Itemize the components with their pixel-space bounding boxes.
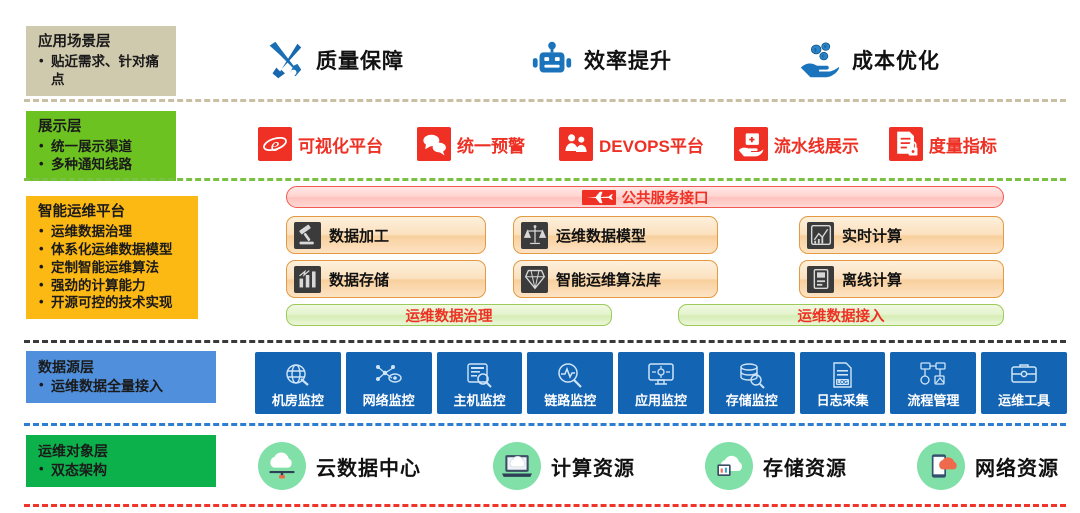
datasource-tiles-row: 机房监控 网络监控 主机监控 (255, 352, 1067, 414)
object-item-label: 云数据中心 (316, 452, 421, 481)
application-item-label: 质量保障 (316, 45, 404, 75)
layer-title-objects: 运维对象层 (38, 442, 206, 460)
layer-bullets-application: 贴近需求、针对痛点 (38, 53, 166, 89)
platform-area: 公共服务接口 数据加工 (286, 186, 1004, 332)
server-rack-icon (807, 266, 834, 293)
presentation-item-label: 度量指标 (929, 132, 997, 157)
airplane-icon (582, 190, 616, 205)
object-item-label: 网络资源 (975, 452, 1059, 481)
datasource-tile-idc-monitoring[interactable]: 机房监控 (255, 352, 341, 414)
browser-e-icon: e (258, 127, 292, 161)
platform-card-label: 智能运维算法库 (556, 269, 661, 290)
layer-label-objects: 运维对象层 双态架构 (26, 435, 216, 487)
presentation-item-label: 流水线展示 (774, 132, 859, 157)
presentation-item-metrics[interactable]: 度量指标 (889, 127, 997, 161)
layer-bullets-objects: 双态架构 (38, 461, 206, 479)
gavel-icon (294, 222, 321, 249)
globe-network-icon (283, 361, 313, 389)
hand-coins-icon: $¥€ (797, 37, 843, 83)
datasource-tile-process-management[interactable]: 流程管理 (890, 352, 976, 414)
bullet-item: 体系化运维数据模型 (38, 241, 188, 259)
datasource-tile-label: 链路监控 (544, 390, 596, 409)
presentation-item-alerting[interactable]: 统一预警 (417, 127, 525, 161)
application-item-efficiency[interactable]: 效率提升 (529, 37, 672, 83)
layer-title-application: 应用场景层 (38, 33, 166, 52)
platform-card-realtime-compute[interactable]: 实时计算 (799, 216, 1004, 254)
platform-card-data-model[interactable]: 运维数据模型 (513, 216, 718, 254)
cloud-datacenter-icon (258, 442, 306, 490)
platform-footer-label: 运维数据接入 (798, 305, 885, 326)
divider-presentation-platform (24, 178, 1066, 181)
bullet-item: 开源可控的技术实现 (38, 294, 188, 312)
pulse-search-icon (555, 361, 585, 389)
wrench-screwdriver-icon (261, 37, 307, 83)
object-item-label: 存储资源 (763, 452, 847, 481)
datasource-tile-label: 存储监控 (726, 390, 778, 409)
layer-title-presentation: 展示层 (38, 118, 166, 137)
platform-card-data-storage[interactable]: 数据存储 (286, 260, 486, 298)
bullet-item: 统一展示渠道 (38, 138, 166, 156)
object-item-cloud-datacenter[interactable]: 云数据中心 (258, 442, 421, 490)
datasource-tile-label: 网络监控 (363, 390, 415, 409)
datasource-tile-label: 机房监控 (272, 390, 324, 409)
layer-label-application: 应用场景层 贴近需求、针对痛点 (26, 26, 176, 96)
platform-card-offline-compute[interactable]: 离线计算 (799, 260, 1004, 298)
objects-items-row: 云数据中心 计算资源 (258, 432, 1070, 500)
architecture-diagram: 应用场景层 贴近需求、针对痛点 质量保障 (0, 0, 1080, 513)
presentation-item-label: 可视化平台 (298, 132, 383, 157)
layer-bullets-platform: 运维数据治理 体系化运维数据模型 定制智能运维算法 强劲的计算能力 开源可控的技… (38, 223, 188, 312)
datasource-tile-application-monitoring[interactable]: 应用监控 (618, 352, 704, 414)
divider-datasource-objects (24, 423, 1066, 426)
platform-footer-data-ingestion[interactable]: 运维数据接入 (678, 304, 1004, 326)
platform-card-label: 实时计算 (842, 225, 902, 246)
datasource-tile-label: 应用监控 (635, 390, 687, 409)
layer-label-platform: 智能运维平台 运维数据治理 体系化运维数据模型 定制智能运维算法 强劲的计算能力… (26, 196, 198, 319)
datasource-tile-storage-monitoring[interactable]: 存储监控 (709, 352, 795, 414)
toolbox-icon (1009, 361, 1039, 389)
log-file-icon: LOG (828, 361, 858, 389)
bullet-item: 贴近需求、针对痛点 (38, 53, 166, 89)
monitor-target-icon (646, 361, 676, 389)
datasource-tile-label: 运维工具 (998, 390, 1050, 409)
gears-people-icon (559, 127, 593, 161)
datasource-tile-link-monitoring[interactable]: 链路监控 (527, 352, 613, 414)
platform-card-row: 数据加工 (286, 216, 1004, 254)
svg-text:$: $ (814, 47, 817, 53)
platform-card-label: 数据加工 (329, 225, 389, 246)
server-search-icon (464, 361, 494, 389)
document-lock-icon (889, 127, 923, 161)
chart-monitor-icon (807, 222, 834, 249)
platform-card-grid: 数据加工 (286, 216, 1004, 326)
layer-label-datasource: 数据源层 运维数据全量接入 (26, 351, 216, 403)
bullet-item: 定制智能运维算法 (38, 259, 188, 277)
datasource-tile-network-monitoring[interactable]: 网络监控 (346, 352, 432, 414)
svg-text:LOG: LOG (837, 380, 848, 386)
object-item-storage-resource[interactable]: 存储资源 (705, 442, 847, 490)
laptop-cloud-icon (493, 442, 541, 490)
hand-server-icon (734, 127, 768, 161)
svg-text:€: € (822, 54, 825, 60)
layer-title-platform: 智能运维平台 (38, 203, 188, 222)
application-item-cost[interactable]: $¥€ 成本优化 (797, 37, 940, 83)
datasource-tile-label: 流程管理 (907, 390, 959, 409)
object-item-network-resource[interactable]: 网络资源 (917, 442, 1059, 490)
chat-bubbles-icon (417, 127, 451, 161)
scales-icon (521, 222, 548, 249)
public-service-api-label: 公共服务接口 (622, 187, 709, 208)
bullet-item: 运维数据全量接入 (38, 377, 206, 395)
bullet-item: 强劲的计算能力 (38, 277, 188, 295)
application-item-label: 效率提升 (584, 45, 672, 75)
cloud-storage-icon (705, 442, 753, 490)
presentation-item-label: 统一预警 (457, 132, 525, 157)
database-search-icon (737, 361, 767, 389)
bullet-item: 双态架构 (38, 461, 206, 479)
svg-text:¥: ¥ (824, 44, 827, 50)
bullet-item: 多种通知线路 (38, 156, 166, 174)
layer-bullets-datasource: 运维数据全量接入 (38, 377, 206, 395)
datasource-tile-label: 主机监控 (453, 390, 505, 409)
presentation-item-devops[interactable]: DEVOPS平台 (559, 127, 704, 161)
public-service-api-bar[interactable]: 公共服务接口 (286, 186, 1004, 208)
platform-card-data-processing[interactable]: 数据加工 (286, 216, 486, 254)
object-item-label: 计算资源 (551, 452, 635, 481)
platform-card-row: 数据存储 智能运维算法库 (286, 260, 1004, 298)
divider-platform-datasource (24, 340, 1066, 343)
platform-footer-row: 运维数据治理 运维数据接入 (286, 304, 1004, 326)
presentation-items-row: e 可视化平台 统一预警 (258, 118, 1070, 170)
network-eye-icon (374, 361, 404, 389)
bar-chart-icon (294, 266, 321, 293)
platform-footer-label: 运维数据治理 (406, 305, 493, 326)
platform-card-algorithm-library[interactable]: 智能运维算法库 (513, 260, 718, 298)
bullet-item: 运维数据治理 (38, 223, 188, 241)
platform-footer-data-governance[interactable]: 运维数据治理 (286, 304, 612, 326)
divider-application-presentation (24, 99, 1066, 102)
presentation-item-pipeline[interactable]: 流水线展示 (734, 127, 859, 161)
presentation-item-label: DEVOPS平台 (599, 132, 704, 157)
phone-cloud-icon (917, 442, 965, 490)
workflow-icon (918, 361, 948, 389)
layer-label-presentation: 展示层 统一展示渠道 多种通知线路 (26, 111, 176, 181)
application-item-label: 成本优化 (852, 45, 940, 75)
platform-card-label: 数据存储 (329, 269, 389, 290)
platform-card-label: 离线计算 (842, 269, 902, 290)
layer-bullets-presentation: 统一展示渠道 多种通知线路 (38, 138, 166, 174)
diamond-gem-icon (521, 266, 548, 293)
robot-icon (529, 37, 575, 83)
divider-bottom (24, 504, 1066, 507)
application-item-quality[interactable]: 质量保障 (261, 37, 404, 83)
datasource-tile-label: 日志采集 (817, 390, 869, 409)
platform-card-label: 运维数据模型 (556, 225, 646, 246)
layer-title-datasource: 数据源层 (38, 358, 206, 376)
datasource-tile-host-monitoring[interactable]: 主机监控 (437, 352, 523, 414)
datasource-tile-log-collection[interactable]: LOG 日志采集 (800, 352, 886, 414)
presentation-item-visualization[interactable]: e 可视化平台 (258, 127, 383, 161)
application-items-row: 质量保障 (255, 26, 1065, 94)
datasource-tile-ops-tools[interactable]: 运维工具 (981, 352, 1067, 414)
object-item-compute-resource[interactable]: 计算资源 (493, 442, 635, 490)
